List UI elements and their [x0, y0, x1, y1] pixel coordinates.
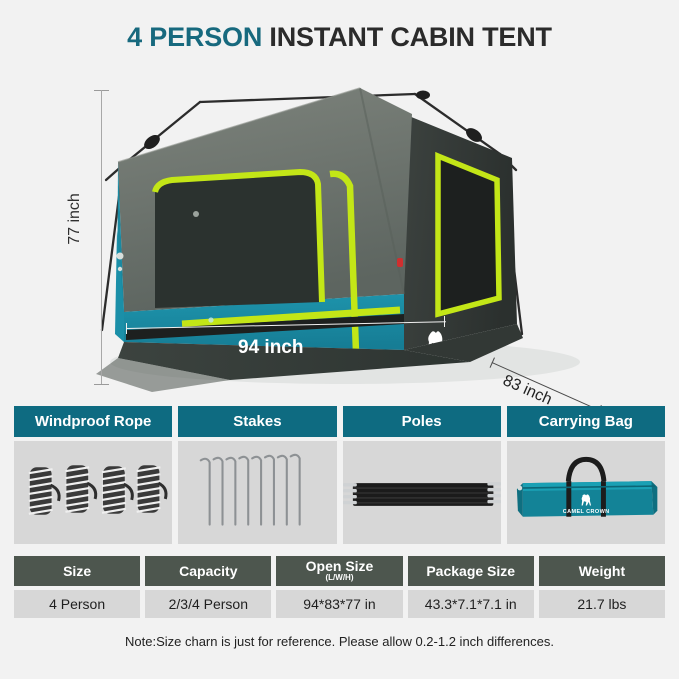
page-title: 4 PERSON INSTANT CABIN TENT — [0, 22, 679, 53]
accessory-image-poles — [343, 441, 501, 544]
tent-hero-image: CAMEL CROWN 77 inch 94 inch 83 inch — [0, 62, 679, 392]
accessory-header-poles: Poles — [343, 406, 501, 437]
spec-value-open-size: 94*83*77 in — [276, 590, 402, 618]
accessory-image-windproof-rope — [14, 441, 172, 544]
spec-header-open-size: Open Size (L/W/H) — [276, 556, 402, 586]
accessory-header-windproof-rope: Windproof Rope — [14, 406, 172, 437]
spec-value-package-size: 43.3*7.1*7.1 in — [408, 590, 534, 618]
spec-header-capacity-label: Capacity — [179, 564, 237, 579]
spec-header-capacity: Capacity — [145, 556, 271, 586]
tent-stakes-icon — [178, 441, 336, 544]
height-dimension-cap-bottom — [94, 384, 109, 385]
product-infographic: 4 PERSON INSTANT CABIN TENT — [0, 0, 679, 679]
svg-text:CAMEL CROWN: CAMEL CROWN — [562, 509, 609, 515]
duffel-bag-icon: CAMEL CROWN — [507, 441, 665, 544]
spec-header-open-size-sub: (L/W/H) — [326, 574, 354, 582]
title-accent: 4 PERSON — [127, 22, 262, 52]
accessories-image-row: CAMEL CROWN — [14, 441, 665, 544]
accessory-image-carrying-bag: CAMEL CROWN — [507, 441, 665, 544]
spec-value-weight: 21.7 lbs — [539, 590, 665, 618]
accessory-header-carrying-bag: Carrying Bag — [507, 406, 665, 437]
spec-header-open-size-label: Open Size — [306, 559, 374, 574]
rope-coils-icon — [14, 441, 172, 544]
spec-header-package-size: Package Size — [408, 556, 534, 586]
title-rest: INSTANT CABIN TENT — [262, 22, 552, 52]
accessories-header-row: Windproof Rope Stakes Poles Carrying Bag — [14, 406, 665, 437]
spec-value-capacity: 2/3/4 Person — [145, 590, 271, 618]
spec-header-weight: Weight — [539, 556, 665, 586]
spec-header-package-size-label: Package Size — [426, 564, 515, 579]
spec-header-size: Size — [14, 556, 140, 586]
spec-value-size: 4 Person — [14, 590, 140, 618]
spec-value-row: 4 Person 2/3/4 Person 94*83*77 in 43.3*7… — [14, 590, 665, 618]
spec-header-row: Size Capacity Open Size (L/W/H) Package … — [14, 556, 665, 586]
size-chart-note: Note:Size charn is just for reference. P… — [0, 634, 679, 649]
height-dimension-label: 77 inch — [66, 193, 84, 245]
accessory-header-stakes: Stakes — [178, 406, 336, 437]
width-dimension-tick-right — [444, 316, 445, 327]
tent-poles-icon — [343, 441, 501, 544]
spec-header-size-label: Size — [63, 564, 91, 579]
height-dimension-line — [101, 90, 102, 385]
accessory-image-stakes — [178, 441, 336, 544]
width-dimension-label: 94 inch — [238, 337, 303, 359]
spec-header-weight-label: Weight — [579, 564, 625, 579]
